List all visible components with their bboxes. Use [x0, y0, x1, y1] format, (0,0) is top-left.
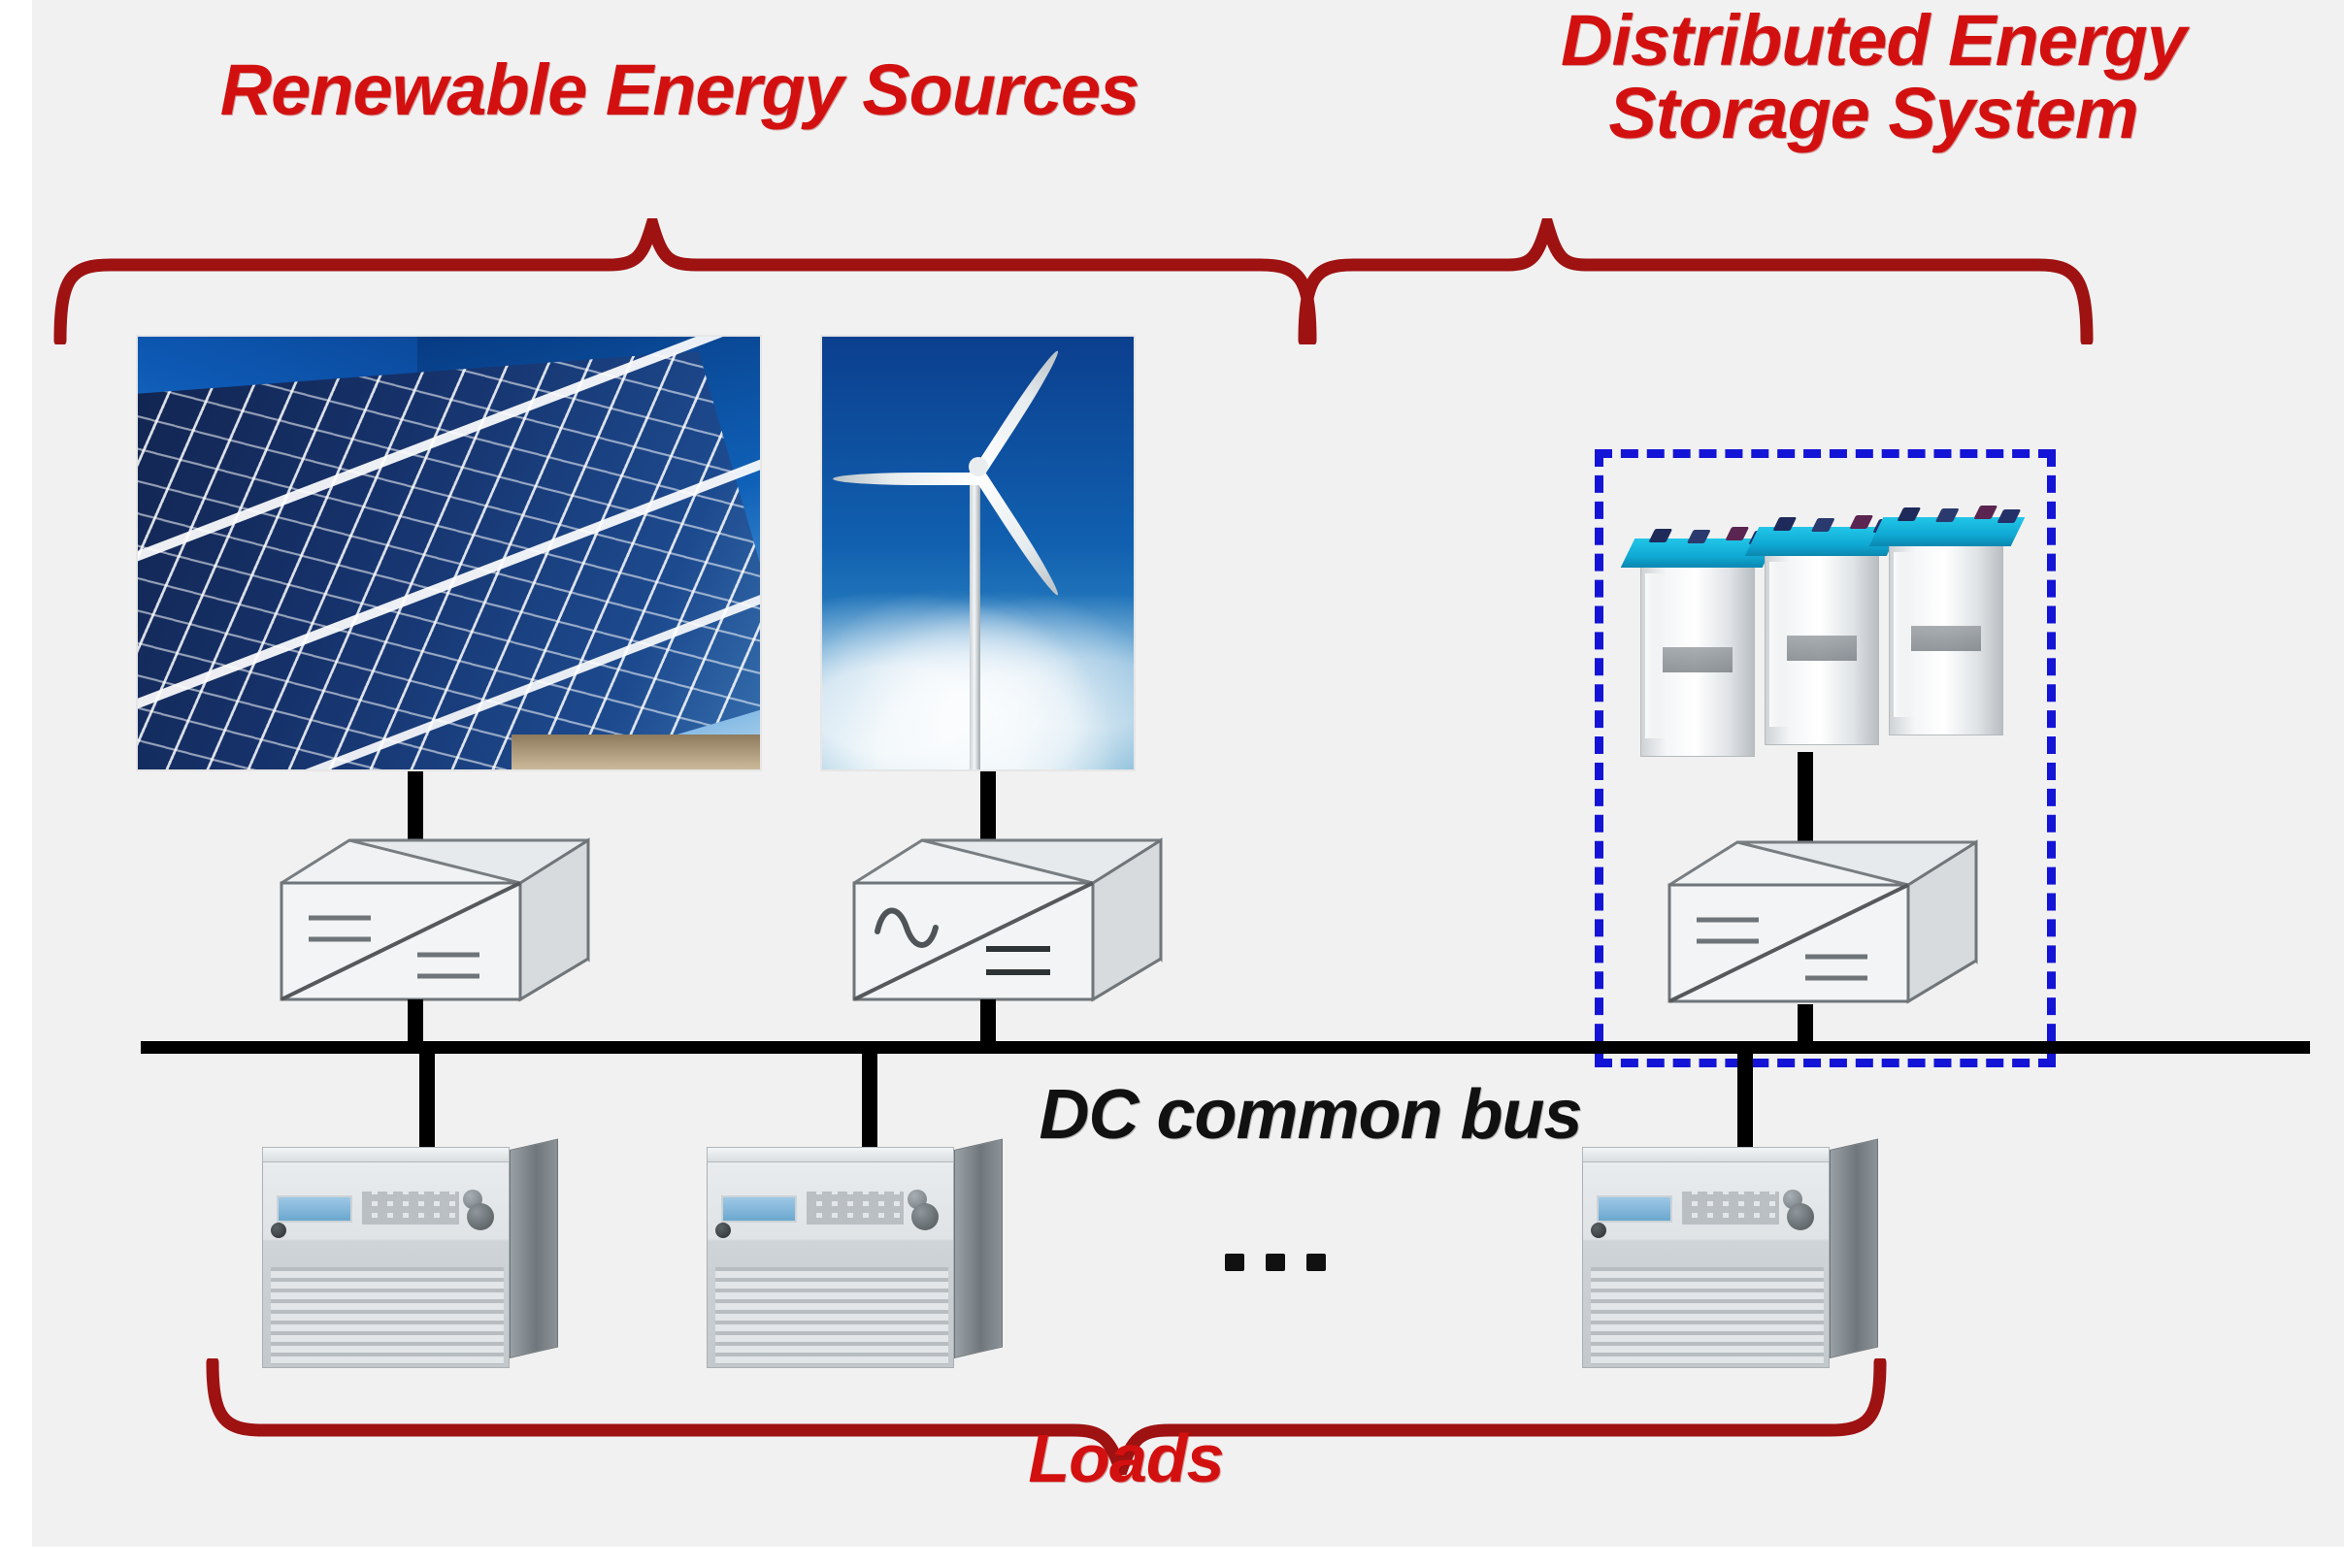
load-power-button — [715, 1223, 731, 1238]
page-title-distributed-energy-storage-system: Distributed EnergyStorage System — [1388, 4, 2344, 150]
ground-strip — [512, 735, 760, 769]
brace-distributed-energy-storage-system — [1289, 218, 2104, 344]
turbine-tower — [970, 467, 980, 769]
pv-module-grid — [136, 335, 762, 771]
electronic-load-device — [707, 1150, 1003, 1373]
battery-bank — [1640, 495, 2019, 757]
ellipsis-dot — [1306, 1254, 1326, 1271]
turbine-hub — [969, 457, 988, 476]
load-side-panel — [1830, 1138, 1878, 1358]
wire-bus-to-load-3 — [1737, 1054, 1753, 1151]
turbine-blade — [833, 473, 978, 485]
wire-bus-to-load-2 — [862, 1054, 877, 1151]
solar-pv-array-photo — [136, 335, 762, 771]
electronic-load-device — [262, 1150, 558, 1373]
ellipsis-dot — [1266, 1254, 1285, 1271]
brace-renewable-energy-sources — [39, 218, 1339, 344]
load-top-face — [707, 1147, 954, 1162]
turbine-blade — [973, 347, 1063, 476]
load-rotary-knob — [467, 1203, 494, 1230]
dess-title-line1: Distributed Energy — [1561, 0, 2186, 81]
load-side-panel — [510, 1138, 558, 1358]
battery-label — [1911, 626, 1981, 651]
load-lcd-display — [277, 1195, 352, 1223]
ellipsis-dot — [1225, 1254, 1244, 1271]
load-side-panel — [954, 1138, 1003, 1358]
dc-common-bus-line — [141, 1041, 2310, 1054]
load-ventilation-slats — [715, 1267, 948, 1364]
diagram-canvas: Renewable Energy Sources Distributed Ene… — [0, 0, 2344, 1568]
wire-bus-to-load-1 — [419, 1054, 435, 1151]
dc-common-bus-label: DC common bus — [922, 1075, 1699, 1155]
load-keypad — [362, 1192, 459, 1225]
load-power-button — [271, 1223, 286, 1238]
battery-label — [1787, 636, 1857, 661]
battery-top-cap — [1869, 517, 2026, 546]
wind-turbine-photo — [820, 335, 1136, 771]
ac-dc-converter-wind — [835, 834, 1165, 1004]
electronic-load-device — [1582, 1150, 1878, 1373]
load-lcd-display — [721, 1195, 797, 1223]
load-ventilation-slats — [1591, 1267, 1824, 1364]
load-rotary-knob — [911, 1203, 939, 1230]
battery-cell — [1765, 551, 1879, 745]
dess-title-line2: Storage System — [1608, 73, 2137, 153]
load-keypad — [807, 1192, 904, 1225]
load-rotary-knob — [1787, 1203, 1814, 1230]
loads-label: Loads — [932, 1424, 1320, 1493]
load-ventilation-slats — [271, 1267, 504, 1364]
load-front-panel — [262, 1160, 510, 1368]
load-front-panel — [707, 1160, 954, 1368]
load-front-panel — [1582, 1160, 1830, 1368]
battery-cell — [1889, 541, 2003, 735]
page-title-renewable-energy-sources: Renewable Energy Sources — [58, 53, 1301, 126]
load-lcd-display — [1597, 1195, 1672, 1223]
load-keypad — [1682, 1192, 1779, 1225]
battery-cell — [1640, 563, 1755, 757]
dc-dc-converter-solar — [262, 834, 592, 1004]
load-power-button — [1591, 1223, 1606, 1238]
load-top-face — [262, 1147, 510, 1162]
load-top-face — [1582, 1147, 1830, 1162]
loads-ellipsis — [1225, 1254, 1347, 1276]
battery-label — [1663, 647, 1733, 672]
bidirectional-dc-dc-converter-storage — [1650, 836, 1980, 1006]
